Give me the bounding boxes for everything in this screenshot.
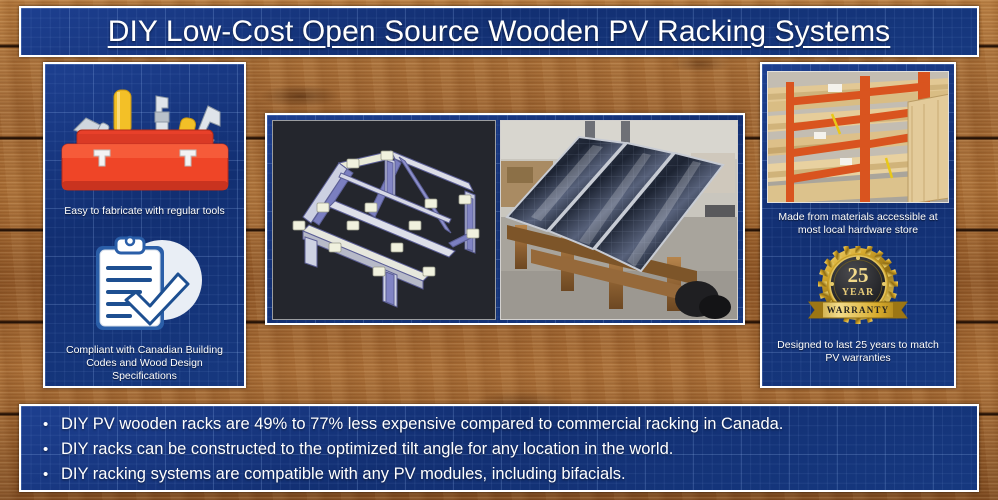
svg-text:WARRANTY: WARRANTY	[827, 305, 890, 315]
photo-lumber-warehouse-rack	[767, 71, 949, 203]
bullet-marker: •	[43, 413, 61, 437]
bullet-text: DIY PV wooden racks are 49% to 77% less …	[61, 412, 783, 436]
bullet-item: • DIY racking systems are compatible wit…	[43, 462, 967, 487]
page-title: DIY Low-Cost Open Source Wooden PV Racki…	[108, 15, 891, 49]
toolbox-icon	[56, 78, 234, 196]
bullet-marker: •	[43, 438, 61, 462]
right-caption-lifetime: Designed to last 25 years to match PV wa…	[766, 339, 950, 365]
bullet-marker: •	[43, 463, 61, 487]
center-image-panel	[265, 113, 745, 325]
left-caption-tools: Easy to fabricate with regular tools	[60, 205, 229, 218]
bullet-item: • DIY PV wooden racks are 49% to 77% les…	[43, 412, 967, 437]
bullet-text: DIY racks can be constructed to the opti…	[61, 437, 673, 461]
svg-text:YEAR: YEAR	[842, 287, 874, 298]
cad-rendering-wooden-pv-rack	[272, 120, 496, 320]
left-feature-panel: Easy to fabricate with regular tools Com…	[43, 62, 246, 388]
warranty-number: 25	[848, 263, 869, 287]
poster-title-bar: DIY Low-Cost Open Source Wooden PV Racki…	[19, 6, 979, 57]
key-points-panel: • DIY PV wooden racks are 49% to 77% les…	[19, 404, 979, 492]
bullet-text: DIY racking systems are compatible with …	[61, 462, 626, 486]
right-caption-materials: Made from materials accessible at most l…	[766, 211, 950, 237]
clipboard-check-icon	[86, 230, 204, 334]
right-feature-panel: Made from materials accessible at most l…	[760, 62, 956, 388]
left-caption-codes: Compliant with Canadian Building Codes a…	[49, 344, 240, 383]
photo-pv-modules-on-wooden-rack	[500, 120, 738, 320]
bullet-item: • DIY racks can be constructed to the op…	[43, 437, 967, 462]
warranty-seal-icon: 25 YEAR WARRANTY	[805, 246, 911, 330]
poster-canvas: DIY Low-Cost Open Source Wooden PV Racki…	[0, 0, 998, 500]
